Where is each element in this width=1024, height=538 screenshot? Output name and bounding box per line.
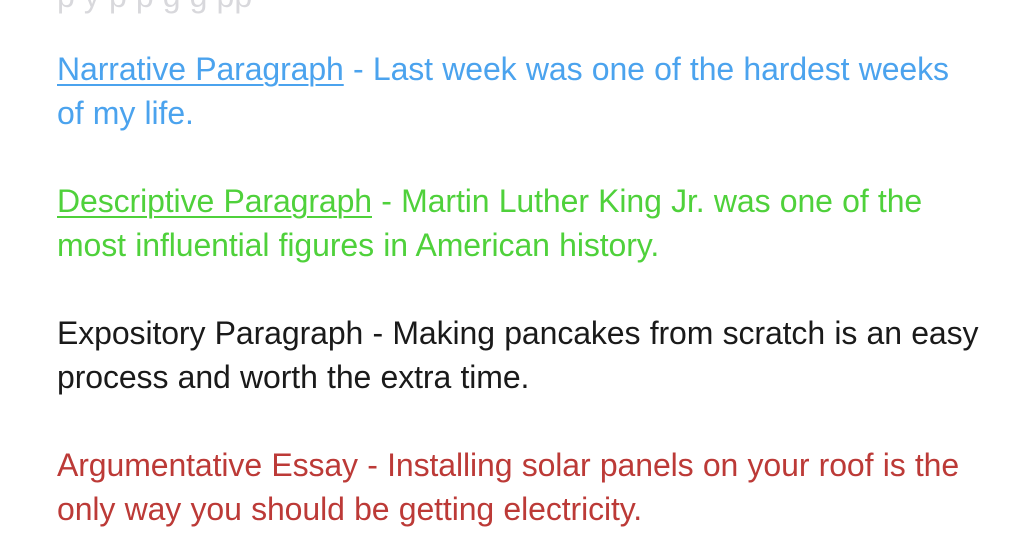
label-argumentative-essay: Argumentative Essay <box>57 447 358 483</box>
list-item-descriptive: Descriptive Paragraph - Martin Luther Ki… <box>57 179 979 267</box>
separator-descriptive: - <box>372 183 401 219</box>
separator-argumentative: - <box>358 447 387 483</box>
paragraph-type-list: Narrative Paragraph - Last week was one … <box>57 47 979 531</box>
separator-narrative: - <box>344 51 373 87</box>
clipped-text-above-viewport: p y p p g g pp <box>57 0 977 18</box>
link-descriptive-paragraph[interactable]: Descriptive Paragraph <box>57 183 372 219</box>
separator-expository: - <box>363 315 392 351</box>
link-narrative-paragraph[interactable]: Narrative Paragraph <box>57 51 344 87</box>
label-expository-paragraph: Expository Paragraph <box>57 315 363 351</box>
list-item-argumentative: Argumentative Essay - Installing solar p… <box>57 443 979 531</box>
list-item-narrative: Narrative Paragraph - Last week was one … <box>57 47 979 135</box>
page-root: p y p p g g pp Narrative Paragraph - Las… <box>0 0 1024 538</box>
list-item-expository: Expository Paragraph - Making pancakes f… <box>57 311 979 399</box>
